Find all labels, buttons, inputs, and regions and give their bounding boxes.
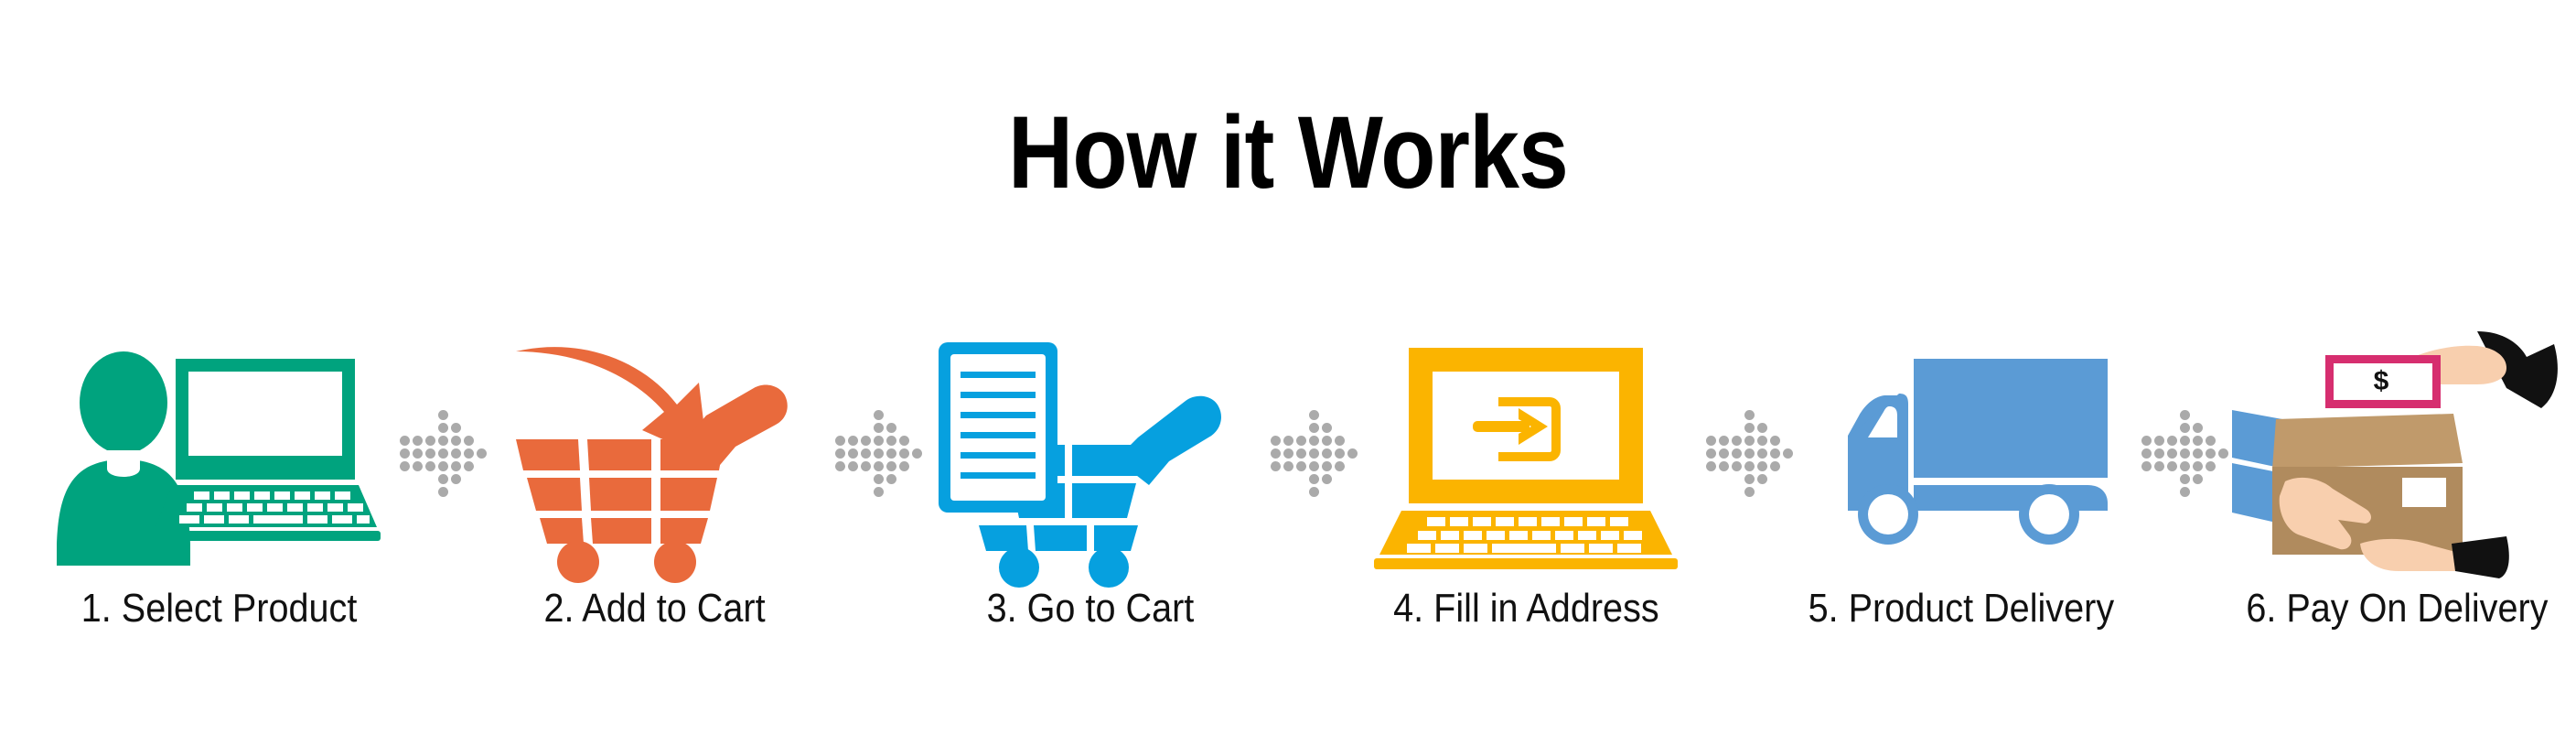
banknote: $ [2325,355,2441,408]
steps-row: 1. Select Product [46,302,2530,632]
step-6-pay-on-delivery[interactable]: $ [2223,302,2571,632]
dot-arrow-grid [2140,410,2218,483]
page-title: How it Works [155,99,2421,207]
step-label: 5. Product Delivery [1809,586,2115,632]
dot-arrow-grid [1269,410,1347,483]
step-label: 4. Fill in Address [1393,586,1659,632]
step-label: 1. Select Product [81,586,358,632]
infographic-page: How it Works [0,0,2576,745]
step-5-product-delivery[interactable]: 5. Product Delivery [1787,302,2135,632]
cash-on-delivery-icon: $ [2232,331,2561,578]
delivery-truck-icon [1797,331,2126,578]
step-4-fill-in-address[interactable]: 4. Fill in Address [1352,302,1700,632]
cart-with-arrow-icon [490,331,820,578]
laptop-login-icon [1361,331,1690,578]
step-label: 3. Go to Cart [987,586,1195,632]
step-label: 2. Add to Cart [544,586,766,632]
step-label: 6. Pay On Delivery [2246,586,2548,632]
dotted-arrow-right-icon [829,302,917,632]
dot-arrow-grid [398,410,477,483]
document-with-cart-icon [926,331,1255,578]
step-2-add-to-cart[interactable]: 2. Add to Cart [481,302,829,632]
dot-arrow-grid [833,410,912,483]
step-1-select-product[interactable]: 1. Select Product [46,302,393,632]
dotted-arrow-right-icon [393,302,481,632]
dot-arrow-grid [1704,410,1783,483]
person-with-laptop-icon [55,331,384,578]
shipping-label [2402,478,2446,507]
dotted-arrow-right-icon [1264,302,1352,632]
step-3-go-to-cart[interactable]: 3. Go to Cart [917,302,1264,632]
dollar-symbol: $ [2374,366,2389,396]
dotted-arrow-right-icon [2135,302,2223,632]
dotted-arrow-right-icon [1700,302,1787,632]
